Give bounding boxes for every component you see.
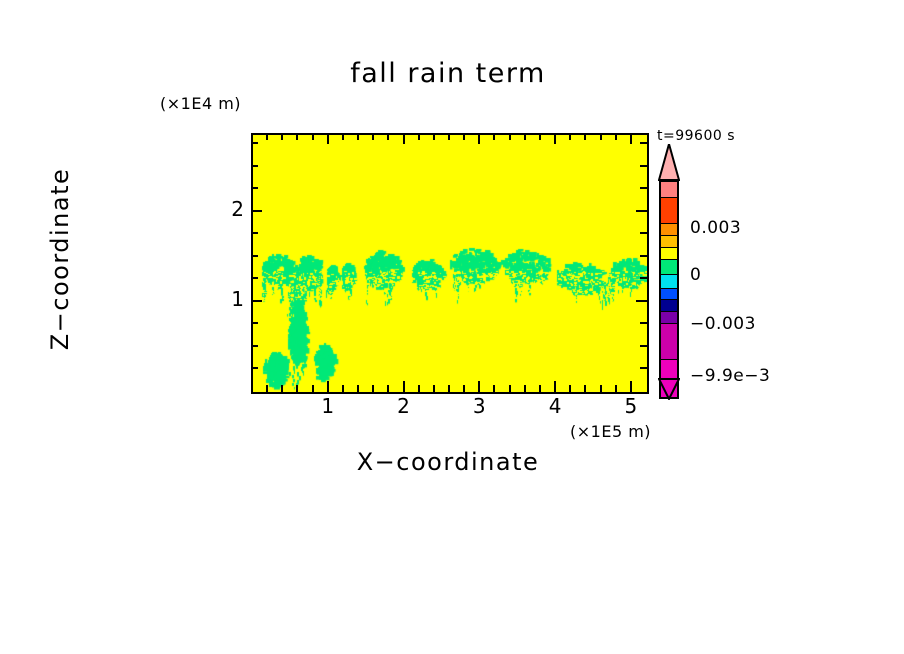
x-minor-tick-top — [357, 133, 359, 140]
y-minor-tick-right — [640, 187, 647, 189]
y-tick-label: 1 — [222, 287, 244, 311]
x-axis-unit-label: (×1E5 m) — [570, 422, 651, 441]
x-minor-tick-top — [615, 133, 617, 140]
x-major-tick-top — [554, 133, 556, 144]
colorbar-tick-label: 0.003 — [690, 218, 741, 238]
colorbar-tick-label: −0.003 — [690, 314, 756, 334]
x-major-tick — [554, 381, 556, 392]
x-minor-tick-top — [463, 133, 465, 140]
x-minor-tick — [584, 385, 586, 392]
contour-field-canvas — [253, 135, 647, 392]
x-tick-label: 2 — [384, 394, 424, 418]
y-minor-tick-right — [640, 165, 647, 167]
x-major-tick — [478, 381, 480, 392]
y-minor-tick-right — [640, 142, 647, 144]
x-minor-tick — [281, 385, 283, 392]
x-minor-tick-top — [342, 133, 344, 140]
colorbar[interactable] — [659, 180, 679, 380]
x-minor-tick — [463, 385, 465, 392]
x-minor-tick — [418, 385, 420, 392]
x-minor-tick — [387, 385, 389, 392]
x-tick-label: 4 — [535, 394, 575, 418]
time-annotation: t=99600 s — [657, 128, 735, 144]
x-minor-tick — [433, 385, 435, 392]
x-minor-tick-top — [524, 133, 526, 140]
y-minor-tick — [251, 367, 258, 369]
x-major-tick — [403, 381, 405, 392]
colorbar-band-spring-green — [659, 260, 679, 275]
x-minor-tick — [539, 385, 541, 392]
x-minor-tick — [569, 385, 571, 392]
plot-area[interactable] — [251, 133, 649, 394]
x-minor-tick-top — [493, 133, 495, 140]
y-minor-tick — [251, 142, 258, 144]
x-minor-tick-top — [509, 133, 511, 140]
x-minor-tick — [296, 385, 298, 392]
y-minor-tick — [251, 277, 258, 279]
y-minor-tick-right — [640, 232, 647, 234]
y-major-tick — [251, 300, 262, 302]
x-minor-tick — [600, 385, 602, 392]
colorbar-band-red-orange — [659, 198, 679, 224]
y-minor-tick-right — [640, 367, 647, 369]
x-major-tick — [630, 381, 632, 392]
x-minor-tick — [524, 385, 526, 392]
colorbar-band-salmon — [659, 180, 679, 198]
x-minor-tick — [448, 385, 450, 392]
x-axis-title: X−coordinate — [251, 448, 645, 476]
x-minor-tick-top — [584, 133, 586, 140]
x-major-tick — [327, 381, 329, 392]
x-minor-tick-top — [418, 133, 420, 140]
x-minor-tick-top — [266, 133, 268, 140]
x-minor-tick-top — [448, 133, 450, 140]
x-minor-tick-top — [296, 133, 298, 140]
y-minor-tick — [251, 345, 258, 347]
x-minor-tick-top — [281, 133, 283, 140]
y-minor-tick-right — [640, 277, 647, 279]
y-minor-tick-right — [640, 255, 647, 257]
x-minor-tick-top — [372, 133, 374, 140]
colorbar-tick-label: 0 — [690, 265, 701, 285]
x-minor-tick-top — [539, 133, 541, 140]
y-axis-title: Z−coordinate — [46, 129, 74, 389]
y-minor-tick — [251, 232, 258, 234]
x-major-tick-top — [327, 133, 329, 144]
y-minor-tick-right — [640, 322, 647, 324]
y-minor-tick — [251, 255, 258, 257]
y-minor-tick — [251, 165, 258, 167]
x-minor-tick — [357, 385, 359, 392]
y-minor-tick — [251, 187, 258, 189]
colorbar-band-magenta — [659, 324, 679, 360]
x-minor-tick — [372, 385, 374, 392]
y-major-tick — [251, 210, 262, 212]
y-minor-tick-right — [640, 345, 647, 347]
x-major-tick-top — [478, 133, 480, 144]
x-major-tick-top — [630, 133, 632, 144]
y-minor-tick — [251, 322, 258, 324]
y-axis-unit-label: (×1E4 m) — [160, 94, 241, 113]
y-major-tick-right — [636, 300, 647, 302]
x-minor-tick — [615, 385, 617, 392]
x-tick-label: 5 — [611, 394, 651, 418]
x-major-tick-top — [403, 133, 405, 144]
x-minor-tick — [509, 385, 511, 392]
x-minor-tick-top — [387, 133, 389, 140]
x-minor-tick — [342, 385, 344, 392]
x-minor-tick-top — [312, 133, 314, 140]
colorbar-band-cyan — [659, 275, 679, 289]
page-title: fall rain term — [251, 58, 645, 89]
x-tick-label: 1 — [308, 394, 348, 418]
colorbar-min-arrow-icon — [658, 378, 680, 400]
colorbar-max-arrow-icon — [658, 144, 680, 181]
colorbar-tick-label: −9.9e−3 — [690, 366, 770, 386]
x-tick-label: 3 — [459, 394, 499, 418]
y-major-tick-right — [636, 210, 647, 212]
y-tick-label: 2 — [222, 197, 244, 221]
x-minor-tick-top — [433, 133, 435, 140]
x-minor-tick-top — [569, 133, 571, 140]
x-minor-tick-top — [600, 133, 602, 140]
x-minor-tick — [266, 385, 268, 392]
x-minor-tick — [312, 385, 314, 392]
x-minor-tick — [493, 385, 495, 392]
